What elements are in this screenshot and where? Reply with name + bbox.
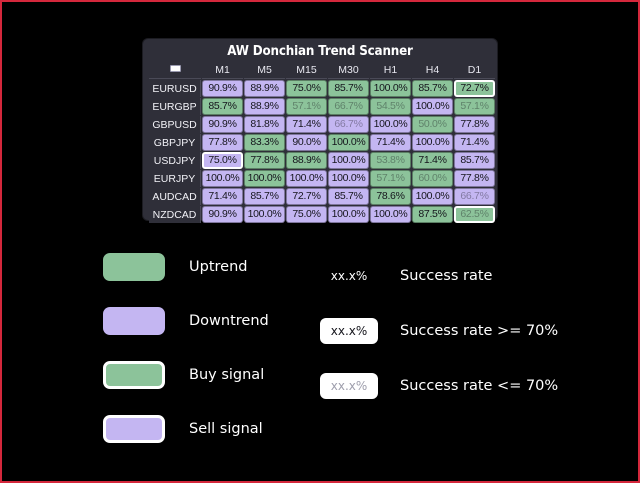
legend-rate-label: Success rate <= 70% bbox=[400, 378, 558, 394]
scanner-table-body: EURUSD90.9%88.9%75.0%85.7%100.0%85.7%72.… bbox=[149, 80, 495, 223]
rate-value: 100.0% bbox=[416, 100, 450, 112]
rate-value: 100.0% bbox=[290, 172, 324, 184]
rate-value: 88.9% bbox=[250, 82, 278, 94]
rate-cell[interactable]: 100.0% bbox=[244, 170, 285, 187]
rate-value: 85.7% bbox=[418, 82, 446, 94]
rate-cell[interactable]: 71.4% bbox=[202, 188, 243, 205]
rate-cell[interactable]: 75.0% bbox=[202, 152, 243, 169]
symbol-cell[interactable]: EURGBP bbox=[149, 98, 201, 115]
rate-value: 66.7% bbox=[460, 190, 488, 202]
rate-cell[interactable]: 75.0% bbox=[286, 80, 327, 97]
rate-value: 77.8% bbox=[460, 118, 488, 130]
rate-cell[interactable]: 72.7% bbox=[286, 188, 327, 205]
rate-cell[interactable]: 81.8% bbox=[244, 116, 285, 133]
rate-cell[interactable]: 100.0% bbox=[412, 188, 453, 205]
rate-cell[interactable]: 100.0% bbox=[244, 206, 285, 223]
rate-cell[interactable]: 90.9% bbox=[202, 116, 243, 133]
legend-rate-item: xx.x%Success rate >= 70% bbox=[320, 303, 630, 358]
rate-value: 90.9% bbox=[208, 118, 236, 130]
rate-cell[interactable]: 57.1% bbox=[286, 98, 327, 115]
legend-item: Buy signal bbox=[103, 348, 333, 402]
rate-value: 85.7% bbox=[334, 190, 362, 202]
rate-value: 72.7% bbox=[460, 82, 488, 94]
rate-value: 100.0% bbox=[374, 118, 408, 130]
legend-label: Sell signal bbox=[189, 421, 263, 437]
legend-rate-chip: xx.x% bbox=[320, 318, 378, 344]
legend-rate-item: xx.x%Success rate bbox=[320, 248, 630, 303]
rate-cell[interactable]: 77.8% bbox=[244, 152, 285, 169]
table-header-row: M1M5M15M30H1H4D1 bbox=[149, 62, 495, 79]
rate-value: 57.1% bbox=[460, 100, 488, 112]
rate-value: 85.7% bbox=[250, 190, 278, 202]
symbol-cell[interactable]: EURUSD bbox=[149, 80, 201, 97]
legend-rate-label: Success rate bbox=[400, 268, 492, 284]
symbol-cell[interactable]: GBPJPY bbox=[149, 134, 201, 151]
rate-value: 85.7% bbox=[208, 100, 236, 112]
rate-value: 90.9% bbox=[208, 208, 236, 220]
rate-cell[interactable]: 100.0% bbox=[412, 134, 453, 151]
rate-value: 62.5% bbox=[460, 208, 488, 220]
rate-value: 81.8% bbox=[250, 118, 278, 130]
rate-cell[interactable]: 77.8% bbox=[202, 134, 243, 151]
legend-label: Downtrend bbox=[189, 313, 269, 329]
rate-value: 57.1% bbox=[292, 100, 320, 112]
column-header-m15[interactable]: M15 bbox=[286, 62, 327, 79]
rate-value: 100.0% bbox=[248, 172, 282, 184]
table-row: EURUSD90.9%88.9%75.0%85.7%100.0%85.7%72.… bbox=[149, 80, 495, 97]
legend-swatch bbox=[103, 361, 165, 389]
rate-value: 71.4% bbox=[292, 118, 320, 130]
rate-cell[interactable]: 87.5% bbox=[412, 206, 453, 223]
rate-value: 57.1% bbox=[376, 172, 404, 184]
rate-cell[interactable]: 85.7% bbox=[202, 98, 243, 115]
rate-value: 85.7% bbox=[334, 82, 362, 94]
rate-value: 83.3% bbox=[250, 136, 278, 148]
rate-cell[interactable]: 75.0% bbox=[286, 206, 327, 223]
table-row: USDJPY75.0%77.8%88.9%100.0%53.8%71.4%85.… bbox=[149, 152, 495, 169]
rate-cell[interactable]: 90.9% bbox=[202, 206, 243, 223]
table-row: EURGBP85.7%88.9%57.1%66.7%54.5%100.0%57.… bbox=[149, 98, 495, 115]
rate-cell[interactable]: 100.0% bbox=[328, 170, 369, 187]
rate-value: 71.4% bbox=[460, 136, 488, 148]
legend-item: Sell signal bbox=[103, 402, 333, 456]
rate-cell[interactable]: 57.1% bbox=[454, 98, 495, 115]
column-header-m1[interactable]: M1 bbox=[202, 62, 243, 79]
rate-cell[interactable]: 60.0% bbox=[412, 170, 453, 187]
legend-rate-item: xx.x%Success rate <= 70% bbox=[320, 358, 630, 413]
rate-value: 75.0% bbox=[292, 82, 320, 94]
rate-cell[interactable]: 100.0% bbox=[328, 134, 369, 151]
rate-value: 72.7% bbox=[292, 190, 320, 202]
rate-value: 88.9% bbox=[292, 154, 320, 166]
rate-value: 100.0% bbox=[248, 208, 282, 220]
legend-swatch bbox=[103, 253, 165, 281]
symbol-cell[interactable]: NZDCAD bbox=[149, 206, 201, 223]
rate-cell[interactable]: 100.0% bbox=[286, 170, 327, 187]
rate-value: 100.0% bbox=[374, 208, 408, 220]
scanner-panel: AW Donchian Trend Scanner M1M5M15M30H1H4… bbox=[143, 39, 497, 220]
rate-cell[interactable]: 77.8% bbox=[454, 116, 495, 133]
rate-value: 75.0% bbox=[208, 154, 236, 166]
rate-cell[interactable]: 88.9% bbox=[244, 98, 285, 115]
legend-rate-label: Success rate >= 70% bbox=[400, 323, 558, 339]
table-row: GBPJPY77.8%83.3%90.0%100.0%71.4%100.0%71… bbox=[149, 134, 495, 151]
rate-value: 71.4% bbox=[208, 190, 236, 202]
rate-cell[interactable]: 66.7% bbox=[328, 98, 369, 115]
legend-label: Buy signal bbox=[189, 367, 264, 383]
scanner-table-head: M1M5M15M30H1H4D1 bbox=[149, 62, 495, 79]
rate-cell[interactable]: 100.0% bbox=[370, 206, 411, 223]
rate-value: 90.0% bbox=[292, 136, 320, 148]
column-header-d1[interactable]: D1 bbox=[454, 62, 495, 79]
legend-trend-column: UptrendDowntrendBuy signalSell signal bbox=[103, 240, 333, 456]
rate-cell[interactable]: 62.5% bbox=[454, 206, 495, 223]
rate-cell[interactable]: 66.7% bbox=[454, 188, 495, 205]
rate-value: 100.0% bbox=[416, 190, 450, 202]
legend-item: Uptrend bbox=[103, 240, 333, 294]
legend-rate-chip: xx.x% bbox=[320, 265, 378, 287]
rate-cell[interactable]: 85.7% bbox=[412, 80, 453, 97]
rate-cell[interactable]: 100.0% bbox=[328, 206, 369, 223]
rate-cell[interactable]: 85.7% bbox=[454, 152, 495, 169]
rate-cell[interactable]: 88.9% bbox=[244, 80, 285, 97]
rate-cell[interactable]: 83.3% bbox=[244, 134, 285, 151]
rate-value: 77.8% bbox=[460, 172, 488, 184]
column-header-m5[interactable]: M5 bbox=[244, 62, 285, 79]
rate-value: 71.4% bbox=[376, 136, 404, 148]
rate-value: 88.9% bbox=[250, 100, 278, 112]
column-header-m30[interactable]: M30 bbox=[328, 62, 369, 79]
rate-value: 60.0% bbox=[418, 172, 446, 184]
screenshot-root: AW Donchian Trend Scanner M1M5M15M30H1H4… bbox=[0, 0, 640, 483]
rate-value: 100.0% bbox=[206, 172, 240, 184]
legend: UptrendDowntrendBuy signalSell signal xx… bbox=[2, 240, 640, 455]
rate-value: 85.7% bbox=[460, 154, 488, 166]
table-corner-cell[interactable] bbox=[149, 62, 201, 79]
rate-cell[interactable]: 71.4% bbox=[286, 116, 327, 133]
legend-swatch bbox=[103, 415, 165, 443]
rate-value: 71.4% bbox=[418, 154, 446, 166]
rate-value: 54.5% bbox=[376, 100, 404, 112]
rectangle-icon bbox=[170, 65, 181, 72]
rate-value: 100.0% bbox=[332, 172, 366, 184]
rate-cell[interactable]: 72.7% bbox=[454, 80, 495, 97]
legend-rate-column: xx.x%Success ratexx.x%Success rate >= 70… bbox=[320, 248, 630, 413]
scanner-title: AW Donchian Trend Scanner bbox=[162, 43, 478, 60]
rate-value: 53.8% bbox=[376, 154, 404, 166]
rate-value: 100.0% bbox=[374, 82, 408, 94]
rate-value: 77.8% bbox=[250, 154, 278, 166]
rate-value: 78.6% bbox=[376, 190, 404, 202]
rate-cell[interactable]: 85.7% bbox=[328, 188, 369, 205]
rate-cell[interactable]: 66.7% bbox=[328, 116, 369, 133]
rate-value: 66.7% bbox=[334, 118, 362, 130]
rate-value: 100.0% bbox=[332, 154, 366, 166]
rate-value: 66.7% bbox=[334, 100, 362, 112]
rate-cell[interactable]: 77.8% bbox=[454, 170, 495, 187]
rate-cell[interactable]: 100.0% bbox=[328, 152, 369, 169]
rate-cell[interactable]: 100.0% bbox=[370, 116, 411, 133]
symbol-cell[interactable]: GBPUSD bbox=[149, 116, 201, 133]
rate-value: 100.0% bbox=[332, 208, 366, 220]
symbol-cell[interactable]: AUDCAD bbox=[149, 188, 201, 205]
rate-cell[interactable]: 78.6% bbox=[370, 188, 411, 205]
rate-value: 77.8% bbox=[208, 136, 236, 148]
column-header-h4[interactable]: H4 bbox=[412, 62, 453, 79]
rate-value: 100.0% bbox=[416, 136, 450, 148]
rate-value: 90.9% bbox=[208, 82, 236, 94]
rate-cell[interactable]: 57.1% bbox=[370, 170, 411, 187]
table-row: NZDCAD90.9%100.0%75.0%100.0%100.0%87.5%6… bbox=[149, 206, 495, 223]
legend-label: Uptrend bbox=[189, 259, 247, 275]
symbol-cell[interactable]: EURJPY bbox=[149, 170, 201, 187]
rate-value: 87.5% bbox=[418, 208, 446, 220]
rate-cell[interactable]: 100.0% bbox=[412, 98, 453, 115]
rate-cell[interactable]: 53.8% bbox=[370, 152, 411, 169]
rate-cell[interactable]: 100.0% bbox=[202, 170, 243, 187]
symbol-cell[interactable]: USDJPY bbox=[149, 152, 201, 169]
rate-cell[interactable]: 88.9% bbox=[286, 152, 327, 169]
table-row: AUDCAD71.4%85.7%72.7%85.7%78.6%100.0%66.… bbox=[149, 188, 495, 205]
rate-value: 50.0% bbox=[418, 118, 446, 130]
rate-cell[interactable]: 85.7% bbox=[244, 188, 285, 205]
rate-cell[interactable]: 50.0% bbox=[412, 116, 453, 133]
rate-cell[interactable]: 90.9% bbox=[202, 80, 243, 97]
rate-cell[interactable]: 71.4% bbox=[454, 134, 495, 151]
table-row: EURJPY100.0%100.0%100.0%100.0%57.1%60.0%… bbox=[149, 170, 495, 187]
rate-value: 100.0% bbox=[332, 136, 366, 148]
legend-rate-chip: xx.x% bbox=[320, 373, 378, 399]
rate-cell[interactable]: 71.4% bbox=[412, 152, 453, 169]
rate-cell[interactable]: 71.4% bbox=[370, 134, 411, 151]
rate-cell[interactable]: 100.0% bbox=[370, 80, 411, 97]
scanner-table: M1M5M15M30H1H4D1 EURUSD90.9%88.9%75.0%85… bbox=[148, 61, 496, 224]
legend-item: Downtrend bbox=[103, 294, 333, 348]
rate-cell[interactable]: 90.0% bbox=[286, 134, 327, 151]
column-header-h1[interactable]: H1 bbox=[370, 62, 411, 79]
rate-cell[interactable]: 85.7% bbox=[328, 80, 369, 97]
legend-swatch bbox=[103, 307, 165, 335]
rate-cell[interactable]: 54.5% bbox=[370, 98, 411, 115]
rate-value: 75.0% bbox=[292, 208, 320, 220]
table-row: GBPUSD90.9%81.8%71.4%66.7%100.0%50.0%77.… bbox=[149, 116, 495, 133]
